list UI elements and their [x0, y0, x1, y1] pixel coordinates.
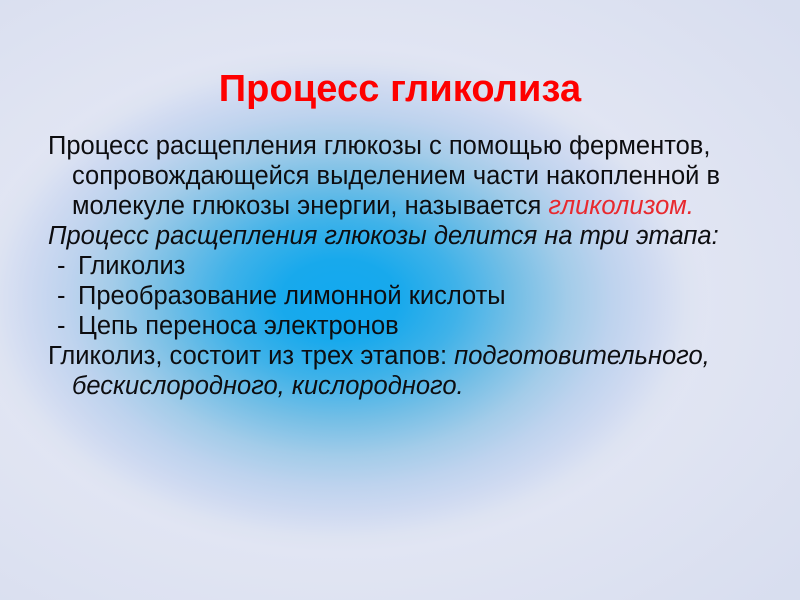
- list-item: - Преобразование лимонной кислоты: [48, 281, 748, 311]
- accent-term-glycolysis: гликолизом.: [548, 192, 693, 220]
- list-item-label: Гликолиз: [78, 252, 185, 280]
- stage-list: - Гликолиз - Преобразование лимонной кис…: [48, 251, 748, 341]
- slide-content: Процесс гликолиза Процесс расщепления гл…: [0, 0, 800, 600]
- conclusion-paragraph: Гликолиз, состоит из трех этапов: подгот…: [48, 341, 748, 401]
- dash-bullet-icon: -: [57, 281, 66, 311]
- slide-body: Процесс расщепления глюкозы с помощью фе…: [48, 131, 748, 401]
- list-item: - Гликолиз: [48, 251, 748, 281]
- page-title: Процесс гликолиза: [0, 69, 800, 111]
- stages-intro-paragraph: Процесс расщепления глюкозы делится на т…: [48, 221, 748, 251]
- conclusion-lead-text: Гликолиз, состоит из трех этапов:: [48, 342, 454, 370]
- list-item-label: Цепь переноса электронов: [78, 312, 399, 340]
- list-item-label: Преобразование лимонной кислоты: [78, 282, 506, 310]
- list-item: - Цепь переноса электронов: [48, 311, 748, 341]
- dash-bullet-icon: -: [57, 251, 66, 281]
- dash-bullet-icon: -: [57, 311, 66, 341]
- slide: Процесс гликолиза Процесс расщепления гл…: [0, 0, 800, 600]
- definition-paragraph: Процесс расщепления глюкозы с помощью фе…: [48, 131, 748, 221]
